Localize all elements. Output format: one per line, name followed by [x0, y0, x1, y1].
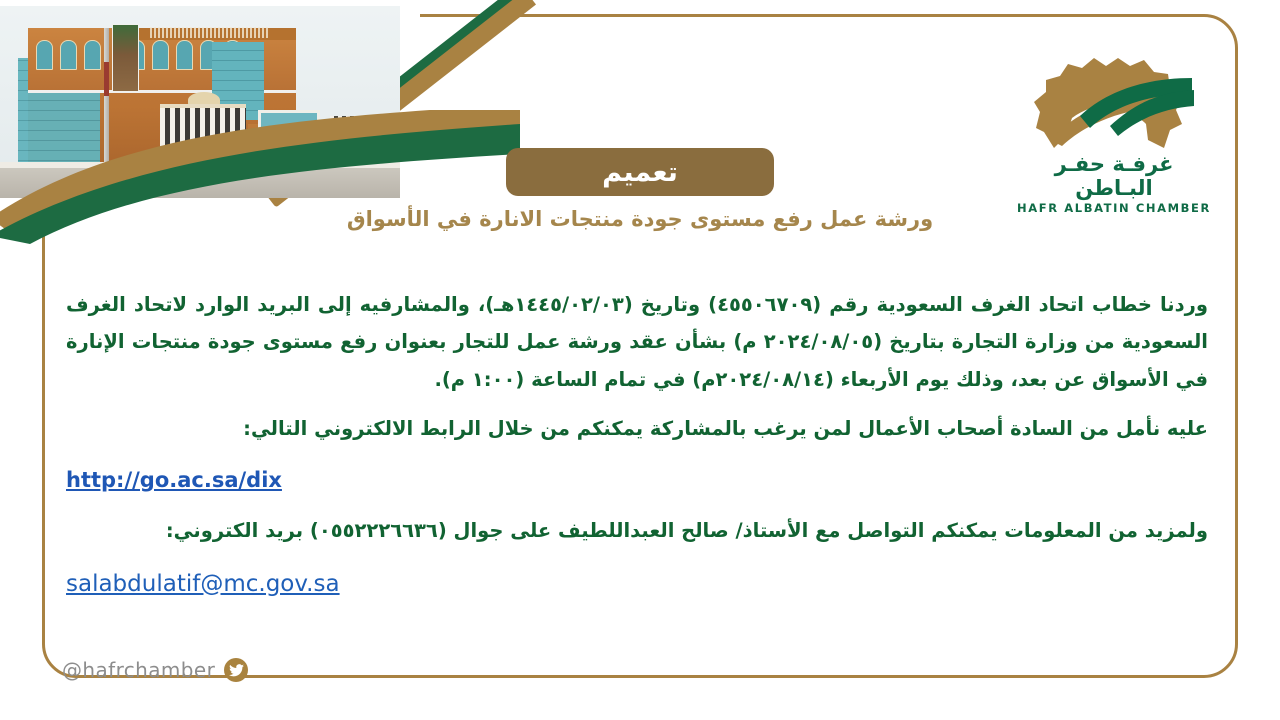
- twitter-bird-glyph: [229, 664, 244, 677]
- contact-email-row: salabdulatif@mc.gov.sa: [66, 562, 1208, 606]
- announcement-page: غرفـة حفـر البـاطن HAFR ALBATIN CHAMBER …: [0, 0, 1280, 720]
- circular-badge-label: تعميم: [602, 157, 678, 188]
- body-paragraph-2: عليه نأمل من السادة أصحاب الأعمال لمن ير…: [66, 410, 1208, 447]
- arch-window: [60, 40, 77, 70]
- registration-link[interactable]: http://go.ac.sa/dix: [66, 468, 282, 492]
- building-arch-row-left: [36, 40, 101, 70]
- arch-window: [36, 40, 53, 70]
- arch-window: [176, 40, 193, 70]
- workshop-subtitle: ورشة عمل رفع مستوى جودة منتجات الانارة ف…: [0, 207, 1280, 231]
- arch-window: [84, 40, 101, 70]
- twitter-handle: @hafrchamber: [62, 658, 215, 682]
- twitter-icon: [224, 658, 248, 682]
- twitter-footer[interactable]: @hafrchamber: [62, 658, 248, 682]
- announcement-body: وردنا خطاب اتحاد الغرف السعودية رقم (٤٥٥…: [66, 286, 1208, 618]
- body-paragraph-1: وردنا خطاب اتحاد الغرف السعودية رقم (٤٥٥…: [66, 286, 1208, 398]
- chamber-logo: غرفـة حفـر البـاطن HAFR ALBATIN CHAMBER: [1014, 44, 1214, 204]
- registration-link-row: http://go.ac.sa/dix: [66, 460, 1208, 500]
- body-paragraph-3: ولمزيد من المعلومات يمكنكم التواصل مع ال…: [66, 512, 1208, 549]
- building-banner-poster: [112, 24, 139, 92]
- circular-badge: تعميم: [506, 148, 774, 196]
- logo-arabic-name: غرفـة حفـر البـاطن: [1014, 152, 1214, 200]
- contact-email-link[interactable]: salabdulatif@mc.gov.sa: [66, 571, 340, 597]
- building-sign-text: [150, 27, 270, 38]
- arch-window: [152, 40, 169, 70]
- chamber-logo-mark: [1014, 44, 1214, 152]
